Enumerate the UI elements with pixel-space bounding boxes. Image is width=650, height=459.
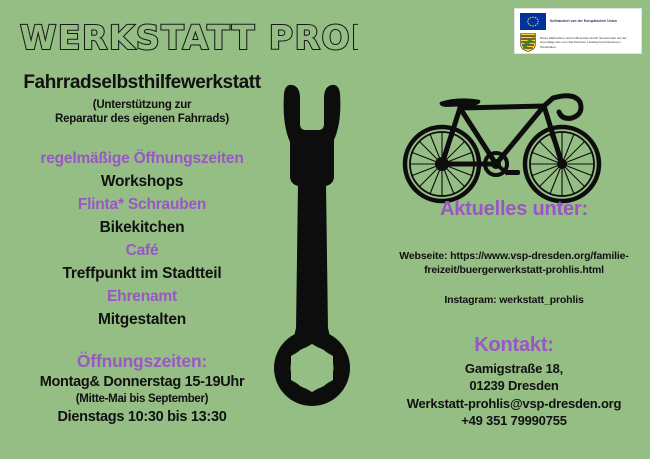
instagram-handle[interactable]: Instagram: werkstatt_prohlis <box>378 293 650 307</box>
contact-heading: Kontakt: <box>378 334 650 357</box>
website-block: Webseite: https://www.vsp-dresden.org/fa… <box>378 249 650 277</box>
news-heading: Aktuelles unter: <box>378 198 650 221</box>
offer-item: Café <box>8 240 276 263</box>
opening-hours-line: Dienstags 10:30 bis 13:30 <box>8 407 276 427</box>
eu-funding-row: Kofinanziert von der Europäischen Union <box>520 13 636 30</box>
offer-item: Ehrenamt <box>8 286 276 309</box>
contact-email[interactable]: Werkstatt-prohlis@vsp-dresden.org <box>378 395 650 413</box>
offer-list: regelmäßige Öffnungszeiten Workshops Fli… <box>8 148 276 332</box>
opening-hours-line: Montag& Donnerstag 15-19Uhr <box>8 372 276 392</box>
wrench-icon <box>272 80 352 416</box>
website-line[interactable]: freizeit/buergerwerkstatt-prohlis.html <box>378 263 650 277</box>
website-line[interactable]: Webseite: https://www.vsp-dresden.org/fa… <box>378 249 650 263</box>
contact-street: Gamigstraße 18, <box>378 360 650 378</box>
funding-logo-box: Kofinanziert von der Europäischen Union … <box>514 8 642 54</box>
saxony-funding-caption: Diese Maßnahme wird mitfinanziert durch … <box>540 36 636 48</box>
left-content-column: Fahrradselbsthilfewerkstatt (Unterstützu… <box>8 72 276 427</box>
page-title: WERKSTATT PROHLIS <box>18 16 358 60</box>
right-content-column: Aktuelles unter: Webseite: https://www.v… <box>378 198 650 430</box>
bicycle-icon <box>396 78 644 204</box>
instagram-block: Instagram: werkstatt_prohlis <box>378 293 650 307</box>
eu-funding-caption: Kofinanziert von der Europäischen Union <box>550 19 617 23</box>
contact-city: 01239 Dresden <box>378 377 650 395</box>
workshop-headline: Fahrradselbsthilfewerkstatt <box>8 72 276 94</box>
workshop-subheadline: (Unterstützung zur Reparatur des eigenen… <box>8 98 276 126</box>
offer-item: Workshops <box>8 171 276 194</box>
saxony-coat-of-arms-icon <box>520 33 536 52</box>
opening-hours-note: (Mitte-Mai bis September) <box>8 392 276 408</box>
offer-item: Treffpunkt im Stadtteil <box>8 263 276 286</box>
contact-phone[interactable]: +49 351 79990755 <box>378 412 650 430</box>
poster-title-text: WERKSTATT PROHLIS <box>20 18 358 57</box>
offer-item: Mitgestalten <box>8 309 276 332</box>
opening-hours-title: Öffnungszeiten: <box>8 351 276 372</box>
workshop-subheadline-line-2: Reparatur des eigenen Fahrrads) <box>8 112 276 126</box>
saxony-funding-row: Diese Maßnahme wird mitfinanziert durch … <box>520 33 636 52</box>
offer-item: Bikekitchen <box>8 217 276 240</box>
poster-canvas: WERKSTATT PROHLIS <box>0 0 650 459</box>
eu-flag-icon <box>520 13 546 30</box>
workshop-subheadline-line-1: (Unterstützung zur <box>8 98 276 112</box>
offer-item: regelmäßige Öffnungszeiten <box>8 148 276 171</box>
contact-block: Kontakt: Gamigstraße 18, 01239 Dresden W… <box>378 334 650 430</box>
opening-hours-block: Öffnungszeiten: Montag& Donnerstag 15-19… <box>8 351 276 428</box>
offer-item: Flinta* Schrauben <box>8 194 276 217</box>
